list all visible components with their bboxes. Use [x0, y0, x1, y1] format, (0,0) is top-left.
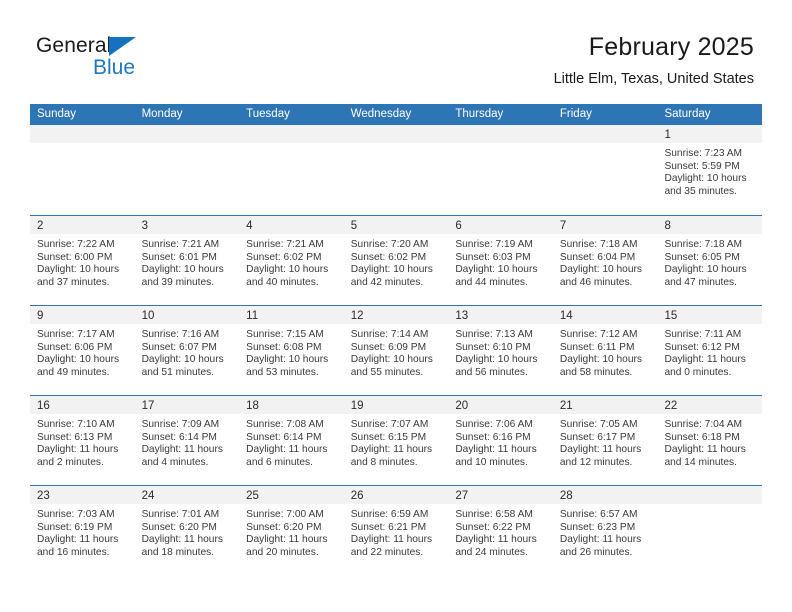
daylight-text: Daylight: 10 hours and 47 minutes.: [664, 264, 758, 289]
day-number-band: 23: [30, 486, 135, 504]
day-number-band: 2: [30, 216, 135, 234]
daylight-text: Daylight: 11 hours and 26 minutes.: [560, 534, 654, 559]
day-info: Sunrise: 7:20 AMSunset: 6:02 PMDaylight:…: [344, 234, 449, 289]
sunrise-text: Sunrise: 7:12 AM: [560, 329, 654, 342]
day-cell[interactable]: 28Sunrise: 6:57 AMSunset: 6:23 PMDayligh…: [553, 486, 658, 575]
daylight-text: Daylight: 10 hours and 53 minutes.: [246, 354, 340, 379]
day-info: Sunrise: 7:19 AMSunset: 6:03 PMDaylight:…: [448, 234, 553, 289]
sunrise-text: Sunrise: 6:58 AM: [455, 509, 549, 522]
day-cell[interactable]: 26Sunrise: 6:59 AMSunset: 6:21 PMDayligh…: [344, 486, 449, 575]
sunrise-text: Sunrise: 7:11 AM: [664, 329, 758, 342]
daylight-text: Daylight: 10 hours and 37 minutes.: [37, 264, 131, 289]
day-cell-empty: [239, 125, 344, 215]
sunset-text: Sunset: 6:03 PM: [455, 252, 549, 265]
day-number: 4: [246, 220, 252, 232]
day-cell[interactable]: 20Sunrise: 7:06 AMSunset: 6:16 PMDayligh…: [448, 396, 553, 485]
day-cell-empty: [344, 125, 449, 215]
sunrise-text: Sunrise: 7:08 AM: [246, 419, 340, 432]
day-number-band: 14: [553, 306, 658, 324]
calendar-week-row: 23Sunrise: 7:03 AMSunset: 6:19 PMDayligh…: [30, 485, 762, 575]
day-cell[interactable]: 6Sunrise: 7:19 AMSunset: 6:03 PMDaylight…: [448, 216, 553, 305]
sunset-text: Sunset: 6:19 PM: [37, 522, 131, 535]
day-cell-empty: [553, 125, 658, 215]
day-number: 19: [351, 400, 364, 412]
day-number: 28: [560, 490, 573, 502]
weekday-header-friday: Friday: [553, 104, 658, 125]
sunrise-text: Sunrise: 7:14 AM: [351, 329, 445, 342]
sunset-text: Sunset: 6:23 PM: [560, 522, 654, 535]
title-block: February 2025 Little Elm, Texas, United …: [554, 32, 754, 88]
day-number: 5: [351, 220, 357, 232]
location-subtitle: Little Elm, Texas, United States: [554, 70, 754, 88]
day-number-band: [657, 486, 762, 504]
day-cell[interactable]: 2Sunrise: 7:22 AMSunset: 6:00 PMDaylight…: [30, 216, 135, 305]
day-cell[interactable]: 16Sunrise: 7:10 AMSunset: 6:13 PMDayligh…: [30, 396, 135, 485]
daylight-text: Daylight: 11 hours and 6 minutes.: [246, 444, 340, 469]
day-number-band: 5: [344, 216, 449, 234]
day-number-band: 6: [448, 216, 553, 234]
day-number-band: 17: [135, 396, 240, 414]
daylight-text: Daylight: 10 hours and 51 minutes.: [142, 354, 236, 379]
day-number: 11: [246, 310, 258, 322]
day-info: Sunrise: 7:05 AMSunset: 6:17 PMDaylight:…: [553, 414, 658, 469]
sunset-text: Sunset: 6:18 PM: [664, 432, 758, 445]
sunrise-text: Sunrise: 7:23 AM: [664, 148, 758, 161]
day-number-band: 11: [239, 306, 344, 324]
sunrise-text: Sunrise: 7:20 AM: [351, 239, 445, 252]
day-number: 20: [455, 400, 468, 412]
day-cell[interactable]: 10Sunrise: 7:16 AMSunset: 6:07 PMDayligh…: [135, 306, 240, 395]
sunset-text: Sunset: 6:09 PM: [351, 342, 445, 355]
sunset-text: Sunset: 6:12 PM: [664, 342, 758, 355]
sunrise-text: Sunrise: 7:10 AM: [37, 419, 131, 432]
day-number: 24: [142, 490, 155, 502]
daylight-text: Daylight: 11 hours and 0 minutes.: [664, 354, 758, 379]
day-cell[interactable]: 23Sunrise: 7:03 AMSunset: 6:19 PMDayligh…: [30, 486, 135, 575]
day-cell[interactable]: 9Sunrise: 7:17 AMSunset: 6:06 PMDaylight…: [30, 306, 135, 395]
sunset-text: Sunset: 6:21 PM: [351, 522, 445, 535]
day-number: 21: [560, 400, 573, 412]
day-info: Sunrise: 7:04 AMSunset: 6:18 PMDaylight:…: [657, 414, 762, 469]
daylight-text: Daylight: 10 hours and 49 minutes.: [37, 354, 131, 379]
day-number: 8: [664, 220, 670, 232]
day-number-band: 28: [553, 486, 658, 504]
day-number-band: 7: [553, 216, 658, 234]
day-number-band: 9: [30, 306, 135, 324]
sunset-text: Sunset: 6:02 PM: [351, 252, 445, 265]
day-cell[interactable]: 7Sunrise: 7:18 AMSunset: 6:04 PMDaylight…: [553, 216, 658, 305]
weekday-header-saturday: Saturday: [657, 104, 762, 125]
day-number-band: 18: [239, 396, 344, 414]
daylight-text: Daylight: 10 hours and 42 minutes.: [351, 264, 445, 289]
day-info: Sunrise: 7:01 AMSunset: 6:20 PMDaylight:…: [135, 504, 240, 559]
sunset-text: Sunset: 6:00 PM: [37, 252, 131, 265]
day-number-band: 26: [344, 486, 449, 504]
sunrise-text: Sunrise: 6:59 AM: [351, 509, 445, 522]
sunset-text: Sunset: 6:22 PM: [455, 522, 549, 535]
sunset-text: Sunset: 6:14 PM: [142, 432, 236, 445]
day-info: Sunrise: 6:59 AMSunset: 6:21 PMDaylight:…: [344, 504, 449, 559]
weekday-header-row: Sunday Monday Tuesday Wednesday Thursday…: [30, 104, 762, 125]
sunset-text: Sunset: 6:14 PM: [246, 432, 340, 445]
day-number: 17: [142, 400, 155, 412]
sunrise-text: Sunrise: 7:03 AM: [37, 509, 131, 522]
day-number: 14: [560, 310, 573, 322]
daylight-text: Daylight: 11 hours and 12 minutes.: [560, 444, 654, 469]
daylight-text: Daylight: 11 hours and 14 minutes.: [664, 444, 758, 469]
day-cell-empty: [448, 125, 553, 215]
day-number: 9: [37, 310, 43, 322]
day-cell[interactable]: 17Sunrise: 7:09 AMSunset: 6:14 PMDayligh…: [135, 396, 240, 485]
day-number-band: 25: [239, 486, 344, 504]
day-number: 1: [664, 129, 670, 141]
day-info: Sunrise: 7:17 AMSunset: 6:06 PMDaylight:…: [30, 324, 135, 379]
daylight-text: Daylight: 10 hours and 46 minutes.: [560, 264, 654, 289]
calendar-page: General Blue February 2025 Little Elm, T…: [0, 0, 792, 612]
logo-text-blue: Blue: [93, 56, 135, 80]
page-title: February 2025: [554, 32, 754, 62]
day-number: 15: [664, 310, 677, 322]
day-number: 27: [455, 490, 468, 502]
day-info: Sunrise: 7:14 AMSunset: 6:09 PMDaylight:…: [344, 324, 449, 379]
daylight-text: Daylight: 11 hours and 24 minutes.: [455, 534, 549, 559]
daylight-text: Daylight: 11 hours and 18 minutes.: [142, 534, 236, 559]
daylight-text: Daylight: 10 hours and 40 minutes.: [246, 264, 340, 289]
sunrise-text: Sunrise: 7:19 AM: [455, 239, 549, 252]
sunrise-text: Sunrise: 7:05 AM: [560, 419, 654, 432]
day-cell[interactable]: 22Sunrise: 7:04 AMSunset: 6:18 PMDayligh…: [657, 396, 762, 485]
sunrise-text: Sunrise: 7:21 AM: [142, 239, 236, 252]
day-number: 6: [455, 220, 461, 232]
day-number: 23: [37, 490, 50, 502]
day-number: 13: [455, 310, 468, 322]
sunrise-text: Sunrise: 7:17 AM: [37, 329, 131, 342]
calendar-week-row: 16Sunrise: 7:10 AMSunset: 6:13 PMDayligh…: [30, 395, 762, 485]
day-number-band: 22: [657, 396, 762, 414]
day-number: 16: [37, 400, 50, 412]
calendar-week-row: 9Sunrise: 7:17 AMSunset: 6:06 PMDaylight…: [30, 305, 762, 395]
day-info: Sunrise: 6:58 AMSunset: 6:22 PMDaylight:…: [448, 504, 553, 559]
day-info: Sunrise: 7:09 AMSunset: 6:14 PMDaylight:…: [135, 414, 240, 469]
day-cell[interactable]: 8Sunrise: 7:18 AMSunset: 6:05 PMDaylight…: [657, 216, 762, 305]
day-cell[interactable]: 5Sunrise: 7:20 AMSunset: 6:02 PMDaylight…: [344, 216, 449, 305]
day-number: 22: [664, 400, 677, 412]
sunrise-text: Sunrise: 7:21 AM: [246, 239, 340, 252]
day-number-band: 10: [135, 306, 240, 324]
daylight-text: Daylight: 10 hours and 55 minutes.: [351, 354, 445, 379]
sunrise-text: Sunrise: 7:15 AM: [246, 329, 340, 342]
day-cell[interactable]: 1Sunrise: 7:23 AMSunset: 5:59 PMDaylight…: [657, 125, 762, 215]
day-number-band: 12: [344, 306, 449, 324]
day-info: Sunrise: 7:15 AMSunset: 6:08 PMDaylight:…: [239, 324, 344, 379]
sunset-text: Sunset: 6:08 PM: [246, 342, 340, 355]
sunrise-text: Sunrise: 6:57 AM: [560, 509, 654, 522]
daylight-text: Daylight: 11 hours and 10 minutes.: [455, 444, 549, 469]
sunrise-text: Sunrise: 7:01 AM: [142, 509, 236, 522]
daylight-text: Daylight: 10 hours and 56 minutes.: [455, 354, 549, 379]
day-number: 3: [142, 220, 148, 232]
day-number: 2: [37, 220, 43, 232]
sunrise-text: Sunrise: 7:18 AM: [560, 239, 654, 252]
day-info: Sunrise: 7:07 AMSunset: 6:15 PMDaylight:…: [344, 414, 449, 469]
day-number-band: 15: [657, 306, 762, 324]
daylight-text: Daylight: 11 hours and 16 minutes.: [37, 534, 131, 559]
day-number-band: 1: [657, 125, 762, 143]
sunset-text: Sunset: 6:16 PM: [455, 432, 549, 445]
day-number: 18: [246, 400, 259, 412]
sunrise-text: Sunrise: 7:13 AM: [455, 329, 549, 342]
sunset-text: Sunset: 5:59 PM: [664, 161, 758, 174]
calendar-week-row: 2Sunrise: 7:22 AMSunset: 6:00 PMDaylight…: [30, 215, 762, 305]
sunrise-text: Sunrise: 7:18 AM: [664, 239, 758, 252]
sunset-text: Sunset: 6:10 PM: [455, 342, 549, 355]
day-cell-empty: [135, 125, 240, 215]
day-number-band: 20: [448, 396, 553, 414]
day-cell[interactable]: 19Sunrise: 7:07 AMSunset: 6:15 PMDayligh…: [344, 396, 449, 485]
day-info: Sunrise: 7:00 AMSunset: 6:20 PMDaylight:…: [239, 504, 344, 559]
sunset-text: Sunset: 6:17 PM: [560, 432, 654, 445]
day-number-band: 16: [30, 396, 135, 414]
day-cell[interactable]: 15Sunrise: 7:11 AMSunset: 6:12 PMDayligh…: [657, 306, 762, 395]
day-info: Sunrise: 7:16 AMSunset: 6:07 PMDaylight:…: [135, 324, 240, 379]
daylight-text: Daylight: 11 hours and 20 minutes.: [246, 534, 340, 559]
sunset-text: Sunset: 6:15 PM: [351, 432, 445, 445]
calendar-weeks: 1Sunrise: 7:23 AMSunset: 5:59 PMDaylight…: [30, 125, 762, 575]
day-number-band: [344, 125, 449, 143]
day-cell[interactable]: 13Sunrise: 7:13 AMSunset: 6:10 PMDayligh…: [448, 306, 553, 395]
day-info: Sunrise: 7:22 AMSunset: 6:00 PMDaylight:…: [30, 234, 135, 289]
day-number-band: 13: [448, 306, 553, 324]
sunset-text: Sunset: 6:20 PM: [246, 522, 340, 535]
sunrise-text: Sunrise: 7:16 AM: [142, 329, 236, 342]
day-cell-empty: [30, 125, 135, 215]
weekday-header-monday: Monday: [135, 104, 240, 125]
day-info: Sunrise: 7:11 AMSunset: 6:12 PMDaylight:…: [657, 324, 762, 379]
day-info: Sunrise: 6:57 AMSunset: 6:23 PMDaylight:…: [553, 504, 658, 559]
sunset-text: Sunset: 6:06 PM: [37, 342, 131, 355]
sunrise-text: Sunrise: 7:07 AM: [351, 419, 445, 432]
day-cell[interactable]: 12Sunrise: 7:14 AMSunset: 6:09 PMDayligh…: [344, 306, 449, 395]
day-cell[interactable]: 11Sunrise: 7:15 AMSunset: 6:08 PMDayligh…: [239, 306, 344, 395]
day-cell-empty: [657, 486, 762, 575]
sunset-text: Sunset: 6:01 PM: [142, 252, 236, 265]
day-info: Sunrise: 7:21 AMSunset: 6:02 PMDaylight:…: [239, 234, 344, 289]
day-cell[interactable]: 21Sunrise: 7:05 AMSunset: 6:17 PMDayligh…: [553, 396, 658, 485]
day-cell[interactable]: 14Sunrise: 7:12 AMSunset: 6:11 PMDayligh…: [553, 306, 658, 395]
sunset-text: Sunset: 6:20 PM: [142, 522, 236, 535]
day-number: 25: [246, 490, 259, 502]
day-info: Sunrise: 7:18 AMSunset: 6:05 PMDaylight:…: [657, 234, 762, 289]
daylight-text: Daylight: 11 hours and 22 minutes.: [351, 534, 445, 559]
daylight-text: Daylight: 10 hours and 58 minutes.: [560, 354, 654, 379]
day-info: Sunrise: 7:10 AMSunset: 6:13 PMDaylight:…: [30, 414, 135, 469]
weekday-header-sunday: Sunday: [30, 104, 135, 125]
logo-flag-icon: [109, 37, 136, 56]
sunrise-text: Sunrise: 7:00 AM: [246, 509, 340, 522]
weekday-header-wednesday: Wednesday: [344, 104, 449, 125]
day-number-band: [553, 125, 658, 143]
day-number-band: [448, 125, 553, 143]
day-info: Sunrise: 7:06 AMSunset: 6:16 PMDaylight:…: [448, 414, 553, 469]
logo-text-general: General: [36, 34, 111, 58]
weekday-header-thursday: Thursday: [448, 104, 553, 125]
day-number-band: 27: [448, 486, 553, 504]
day-info: Sunrise: 7:18 AMSunset: 6:04 PMDaylight:…: [553, 234, 658, 289]
day-info: Sunrise: 7:23 AMSunset: 5:59 PMDaylight:…: [657, 143, 762, 198]
sunrise-text: Sunrise: 7:06 AM: [455, 419, 549, 432]
day-info: Sunrise: 7:03 AMSunset: 6:19 PMDaylight:…: [30, 504, 135, 559]
sunrise-text: Sunrise: 7:09 AM: [142, 419, 236, 432]
sunrise-text: Sunrise: 7:04 AM: [664, 419, 758, 432]
sunset-text: Sunset: 6:07 PM: [142, 342, 236, 355]
day-cell[interactable]: 3Sunrise: 7:21 AMSunset: 6:01 PMDaylight…: [135, 216, 240, 305]
calendar-grid: Sunday Monday Tuesday Wednesday Thursday…: [30, 104, 762, 575]
day-number-band: 4: [239, 216, 344, 234]
day-number-band: [239, 125, 344, 143]
daylight-text: Daylight: 11 hours and 2 minutes.: [37, 444, 131, 469]
day-number-band: 21: [553, 396, 658, 414]
day-cell[interactable]: 18Sunrise: 7:08 AMSunset: 6:14 PMDayligh…: [239, 396, 344, 485]
day-info: Sunrise: 7:12 AMSunset: 6:11 PMDaylight:…: [553, 324, 658, 379]
day-info: Sunrise: 7:08 AMSunset: 6:14 PMDaylight:…: [239, 414, 344, 469]
day-number-band: [135, 125, 240, 143]
daylight-text: Daylight: 10 hours and 44 minutes.: [455, 264, 549, 289]
day-number-band: 19: [344, 396, 449, 414]
sunset-text: Sunset: 6:11 PM: [560, 342, 654, 355]
daylight-text: Daylight: 10 hours and 39 minutes.: [142, 264, 236, 289]
day-number: 12: [351, 310, 364, 322]
sunset-text: Sunset: 6:05 PM: [664, 252, 758, 265]
sunrise-text: Sunrise: 7:22 AM: [37, 239, 131, 252]
day-cell[interactable]: 24Sunrise: 7:01 AMSunset: 6:20 PMDayligh…: [135, 486, 240, 575]
daylight-text: Daylight: 10 hours and 35 minutes.: [664, 173, 758, 198]
day-number-band: 8: [657, 216, 762, 234]
day-info: Sunrise: 7:13 AMSunset: 6:10 PMDaylight:…: [448, 324, 553, 379]
day-number: 26: [351, 490, 364, 502]
day-number-band: 24: [135, 486, 240, 504]
day-cell[interactable]: 4Sunrise: 7:21 AMSunset: 6:02 PMDaylight…: [239, 216, 344, 305]
sunset-text: Sunset: 6:02 PM: [246, 252, 340, 265]
page-header: General Blue February 2025 Little Elm, T…: [0, 0, 792, 100]
weekday-header-tuesday: Tuesday: [239, 104, 344, 125]
day-cell[interactable]: 27Sunrise: 6:58 AMSunset: 6:22 PMDayligh…: [448, 486, 553, 575]
daylight-text: Daylight: 11 hours and 4 minutes.: [142, 444, 236, 469]
day-number-band: 3: [135, 216, 240, 234]
sunset-text: Sunset: 6:13 PM: [37, 432, 131, 445]
day-number-band: [30, 125, 135, 143]
sunset-text: Sunset: 6:04 PM: [560, 252, 654, 265]
day-info: Sunrise: 7:21 AMSunset: 6:01 PMDaylight:…: [135, 234, 240, 289]
day-cell[interactable]: 25Sunrise: 7:00 AMSunset: 6:20 PMDayligh…: [239, 486, 344, 575]
day-number: 10: [142, 310, 155, 322]
general-blue-logo[interactable]: General Blue: [36, 34, 256, 86]
calendar-week-row: 1Sunrise: 7:23 AMSunset: 5:59 PMDaylight…: [30, 125, 762, 215]
day-number: 7: [560, 220, 566, 232]
daylight-text: Daylight: 11 hours and 8 minutes.: [351, 444, 445, 469]
